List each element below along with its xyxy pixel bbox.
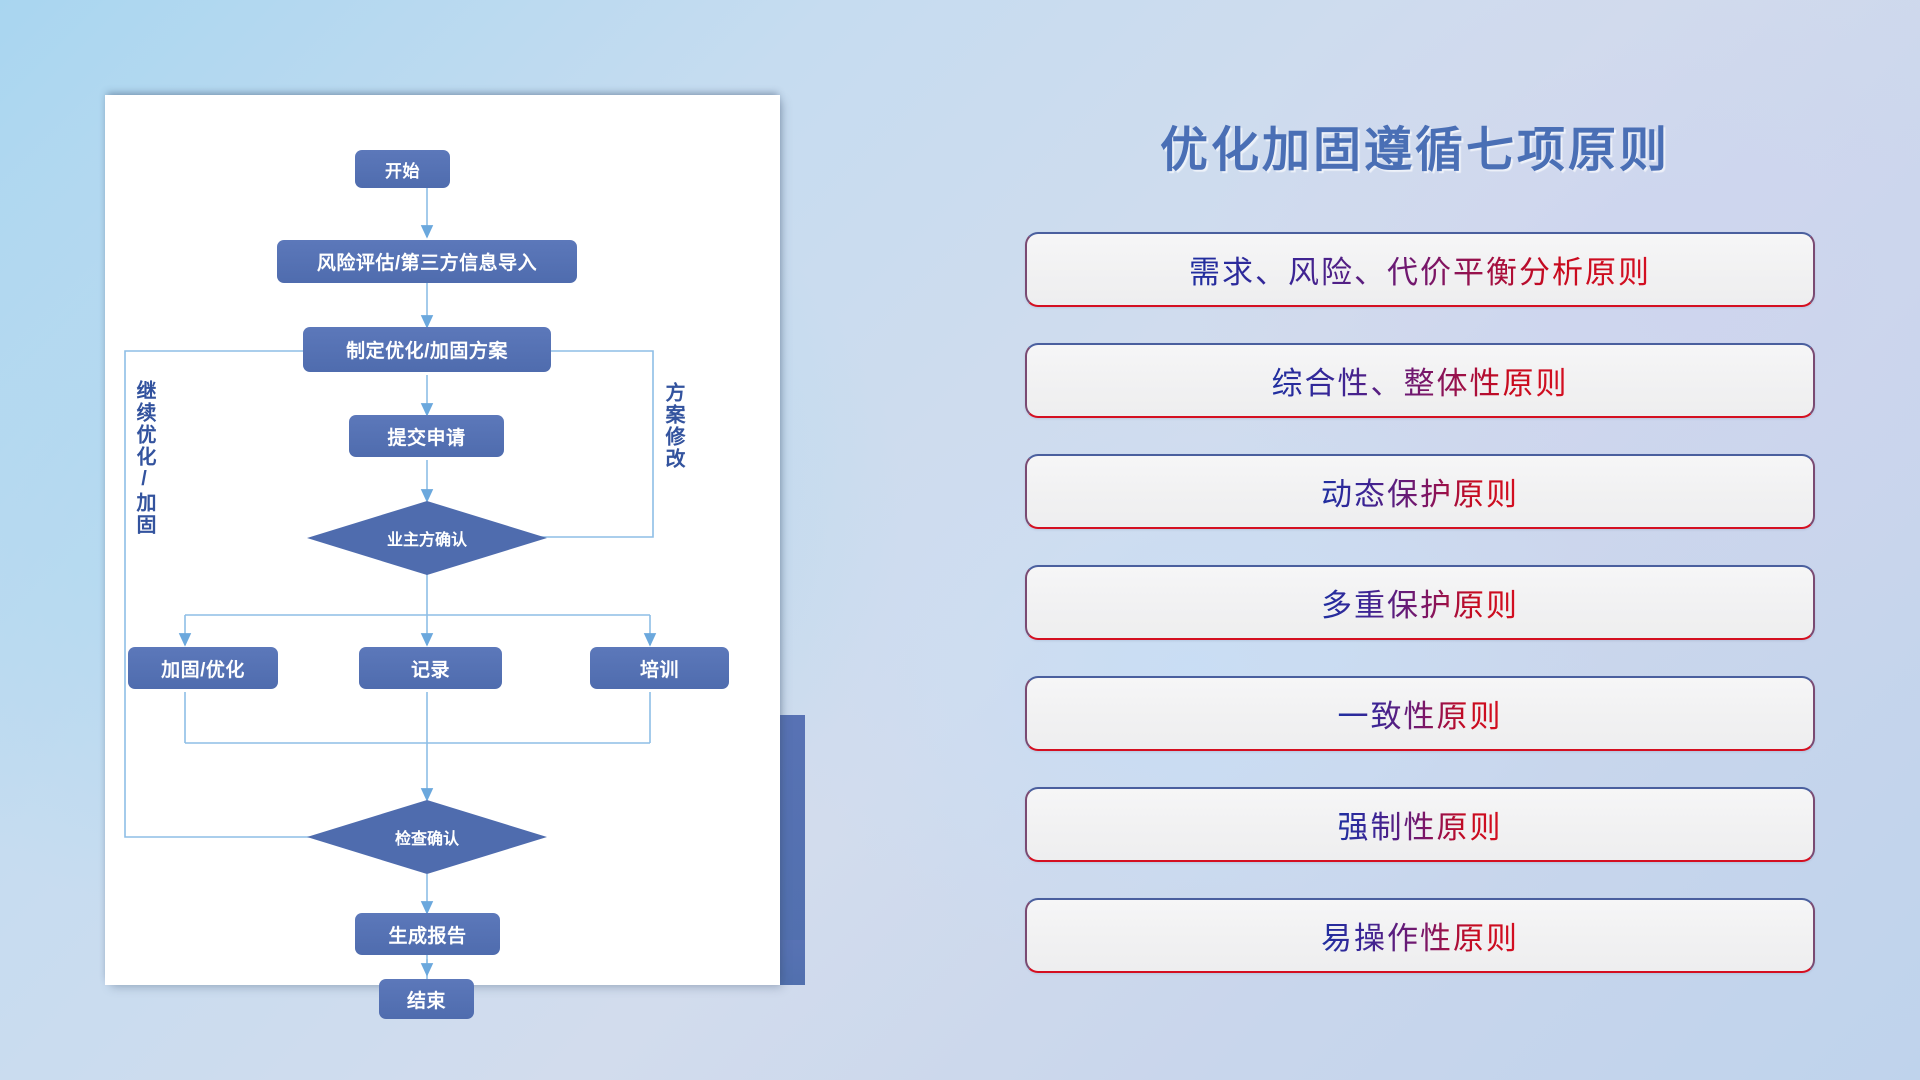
flow-node-end[interactable]: 结束 [379, 979, 474, 1019]
principle-item[interactable]: 综合性、整体性原则 [1025, 343, 1815, 418]
edge-label-continue-optimization: 继续优化/加固 [133, 380, 154, 536]
flow-node-record[interactable]: 记录 [359, 647, 502, 689]
principle-label: 需求、风险、代价平衡分析原则 [1189, 247, 1651, 292]
principles-title: 优化加固遵循七项原则 [1020, 110, 1810, 180]
flow-node-label: 培训 [640, 655, 679, 682]
principle-item[interactable]: 一致性原则 [1025, 676, 1815, 751]
flow-node-label: 提交申请 [387, 423, 465, 450]
principle-item[interactable]: 易操作性原则 [1025, 898, 1815, 973]
edge-label-plan-revision: 方案修改 [662, 382, 683, 470]
flow-node-generate-report[interactable]: 生成报告 [355, 913, 500, 955]
principle-label: 多重保护原则 [1321, 580, 1519, 625]
principle-label: 一致性原则 [1338, 691, 1503, 736]
principle-item[interactable]: 多重保护原则 [1025, 565, 1815, 640]
flowchart-card: 开始 风险评估/第三方信息导入 制定优化/加固方案 提交申请 业主方确认 加固/… [105, 95, 780, 985]
flow-node-label: 业主方确认 [387, 526, 467, 550]
flow-node-reinforce[interactable]: 加固/优化 [128, 647, 278, 689]
principles-list: 需求、风险、代价平衡分析原则 综合性、整体性原则 动态保护原则 多重保护原则 一… [1025, 232, 1815, 1009]
flow-node-label: 制定优化/加固方案 [346, 336, 508, 363]
principle-label: 综合性、整体性原则 [1272, 358, 1569, 403]
principle-label: 强制性原则 [1338, 802, 1503, 847]
principle-item[interactable]: 强制性原则 [1025, 787, 1815, 862]
principle-label: 动态保护原则 [1321, 469, 1519, 514]
flow-node-plan[interactable]: 制定优化/加固方案 [303, 327, 551, 372]
flow-node-submit-application[interactable]: 提交申请 [349, 415, 504, 457]
flow-node-label: 风险评估/第三方信息导入 [317, 248, 537, 275]
flow-node-label: 记录 [411, 655, 450, 682]
flow-node-label: 结束 [407, 986, 446, 1013]
flowchart-panel: 开始 风险评估/第三方信息导入 制定优化/加固方案 提交申请 业主方确认 加固/… [0, 0, 840, 1080]
flow-node-label: 生成报告 [388, 921, 466, 948]
flow-node-label: 加固/优化 [161, 655, 245, 682]
principle-item[interactable]: 需求、风险、代价平衡分析原则 [1025, 232, 1815, 307]
flow-node-training[interactable]: 培训 [590, 647, 729, 689]
flow-node-label: 开始 [385, 157, 420, 182]
flow-node-start[interactable]: 开始 [355, 150, 450, 188]
principle-label: 易操作性原则 [1321, 913, 1519, 958]
principle-item[interactable]: 动态保护原则 [1025, 454, 1815, 529]
flow-node-label: 检查确认 [395, 825, 459, 849]
flow-node-risk-assessment[interactable]: 风险评估/第三方信息导入 [277, 240, 577, 283]
principles-panel: 优化加固遵循七项原则 需求、风险、代价平衡分析原则 综合性、整体性原则 动态保护… [1020, 0, 1920, 1080]
